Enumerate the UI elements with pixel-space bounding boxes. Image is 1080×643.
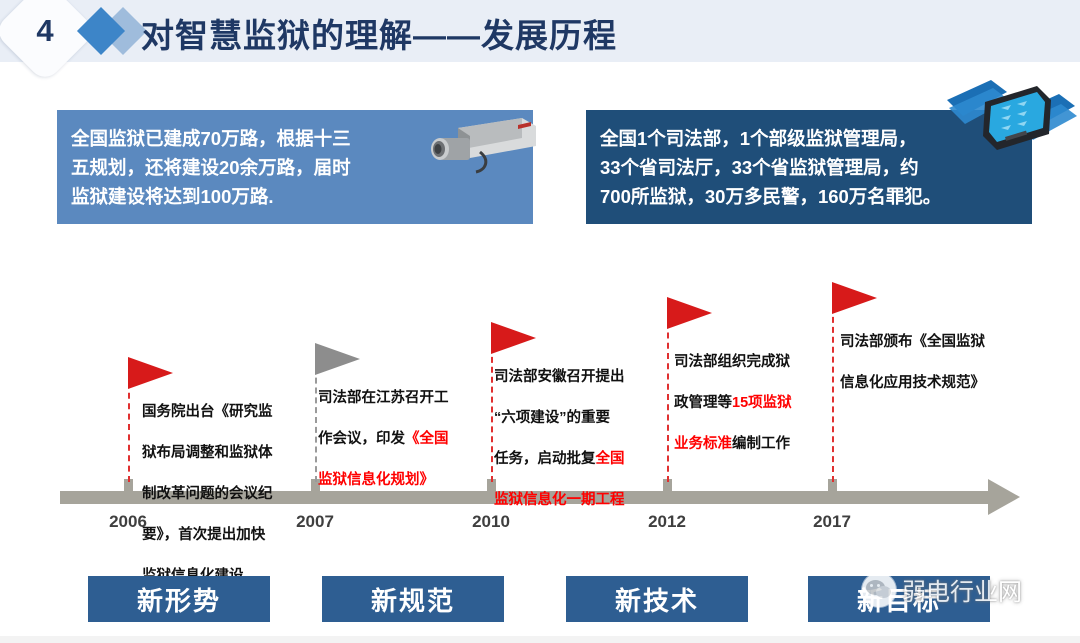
- stat-box-right-text: 全国1个司法部，1个部级监狱管理局， 33个省司法厅，33个省监狱管理局，约 7…: [600, 124, 941, 211]
- event-line: 司法部安徽召开提出: [494, 369, 625, 385]
- event-line-highlight: 《全国: [405, 431, 449, 447]
- timeline-year-2007: 2007: [296, 512, 334, 532]
- footer-button-label: 新技术: [615, 581, 699, 618]
- footer-button-label: 新形势: [137, 581, 221, 618]
- stat-box-left-text: 全国监狱已建成70万路，根据十三 五规划，还将建设20余万路，届时 监狱建设将达…: [71, 124, 351, 211]
- event-line-highlight: 监狱信息化一期工程: [494, 492, 625, 508]
- footer-button-new-standard[interactable]: 新规范: [322, 576, 504, 622]
- event-line: 司法部在江苏召开工: [318, 390, 449, 406]
- timeline-flag-2012: [667, 297, 712, 329]
- timeline-event-2012-text: 司法部组织完成狱 政管理等15项监狱 业务标准编制工作: [674, 331, 826, 454]
- watermark: 弱电行业网: [862, 572, 1022, 607]
- slide-number-text: 4: [8, 0, 82, 68]
- event-line-highlight: 全国: [596, 451, 625, 467]
- cctv-camera-icon: [418, 112, 540, 180]
- timeline-arrow-icon: [988, 479, 1020, 515]
- footer-button-new-technology[interactable]: 新技术: [566, 576, 748, 622]
- event-line: 狱布局调整和监狱体: [142, 445, 273, 461]
- timeline-stem-2012: [667, 312, 669, 482]
- event-line: 作会议，印发: [318, 431, 405, 447]
- event-line: 司法部组织完成狱: [674, 354, 790, 370]
- event-line: 制改革问题的会议纪: [142, 486, 273, 502]
- event-line: 政管理等: [674, 395, 732, 411]
- timeline-event-2007-text: 司法部在江苏召开工 作会议，印发《全国 监狱信息化规划》: [318, 367, 483, 490]
- timeline-event-2006-text: 国务院出台《研究监 狱布局调整和监狱体 制改革问题的会议纪 要》，首次提出加快 …: [142, 381, 302, 586]
- watermark-text: 弱电行业网: [902, 572, 1022, 607]
- event-line-highlight: 业务标准: [674, 436, 732, 452]
- event-line: 要》，首次提出加快: [142, 527, 265, 543]
- timeline-event-2010-text: 司法部安徽召开提出 “六项建设”的重要 任务，启动批复全国 监狱信息化一期工程: [494, 346, 660, 510]
- timeline-event-2017-text: 司法部颁布《全国监狱 信息化应用技术规范》: [840, 311, 1040, 393]
- page-title: 对智慧监狱的理解——发展历程: [141, 9, 617, 57]
- timeline-year-2010: 2010: [472, 512, 510, 532]
- footer-button-new-situation[interactable]: 新形势: [88, 576, 270, 622]
- timeline-stem-2010: [491, 337, 493, 482]
- timeline-year-2017: 2017: [813, 512, 851, 532]
- event-line: 司法部颁布《全国监狱: [840, 334, 985, 350]
- event-line-highlight: 15项监狱: [732, 395, 792, 411]
- timeline-flag-2017: [832, 282, 877, 314]
- event-line-highlight: 监狱信息化规划》: [318, 472, 434, 488]
- bottom-strip: [0, 636, 1080, 643]
- event-line: 任务，启动批复: [494, 451, 596, 467]
- timeline-stem-2017: [832, 297, 834, 482]
- server-rack-icon: [945, 74, 1077, 160]
- event-line: 信息化应用技术规范》: [840, 375, 985, 391]
- slide-header: 4 对智慧监狱的理解——发展历程: [0, 0, 1080, 62]
- timeline-stem-2007: [315, 358, 317, 482]
- footer-button-label: 新规范: [371, 581, 455, 618]
- event-line: 国务院出台《研究监: [142, 404, 273, 420]
- wechat-logo-icon: [862, 573, 896, 607]
- event-line: 编制工作: [732, 436, 790, 452]
- timeline-year-2012: 2012: [648, 512, 686, 532]
- event-line: “六项建设”的重要: [494, 410, 610, 426]
